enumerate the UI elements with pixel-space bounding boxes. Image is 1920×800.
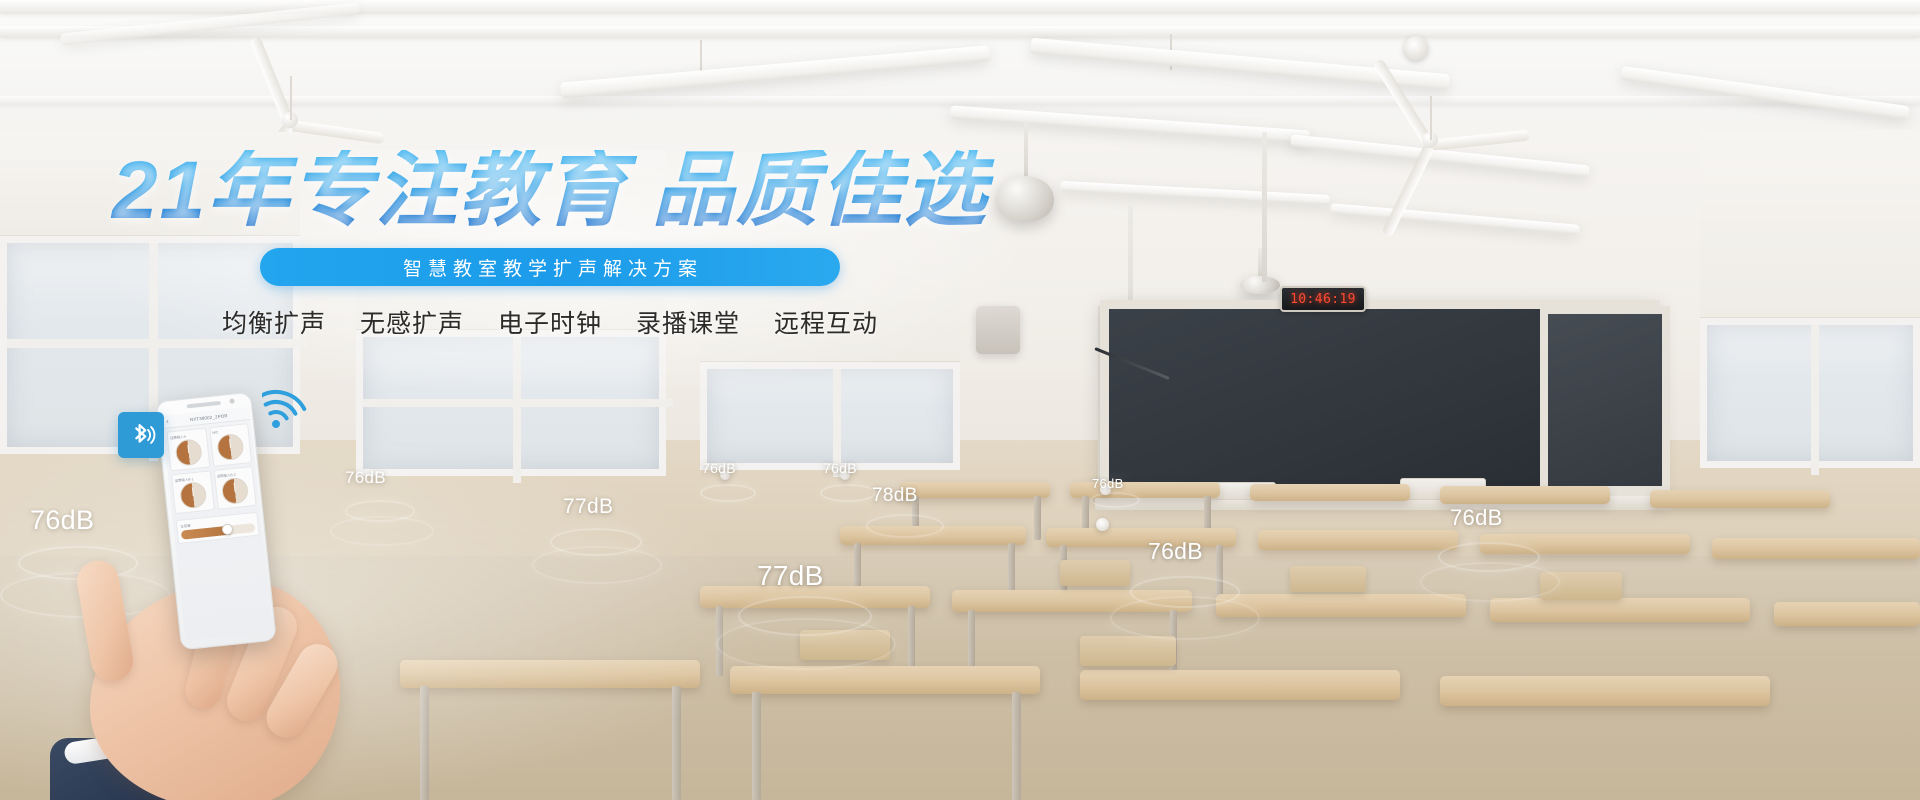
fan-rod <box>1430 96 1432 140</box>
page-title: 21年专注教育 品质佳选 <box>0 150 1100 232</box>
db-reading-1: 76dB <box>345 468 386 488</box>
app-dial-knob[interactable] <box>221 477 250 506</box>
feature-list: 均衡扩声无感扩声电子时钟录播课堂远程互动 <box>190 304 910 340</box>
window <box>1700 318 1920 468</box>
hero-text-block: 21年专注教育 品质佳选 智慧教室教学扩声解决方案 均衡扩声无感扩声电子时钟录播… <box>0 150 1100 340</box>
student-desk <box>1490 598 1750 622</box>
phone-speaker-grille <box>187 401 221 409</box>
student-desk <box>1250 484 1410 501</box>
subtitle-badge: 智慧教室教学扩声解决方案 <box>260 248 840 286</box>
db-reading-8: 76dB <box>1148 538 1203 565</box>
student-desk <box>1440 676 1770 706</box>
window <box>700 362 960 470</box>
window-blind <box>1700 130 1920 320</box>
desk-leg <box>1008 543 1015 597</box>
ceiling-fan <box>1430 140 1431 141</box>
hanging-rod <box>1262 132 1267 282</box>
ceiling-sensor <box>1404 36 1428 60</box>
app-dial-knob[interactable] <box>216 433 245 462</box>
student-desk <box>1258 530 1458 550</box>
desk-leg <box>672 686 681 800</box>
ceiling-fan <box>290 120 291 121</box>
hero-banner: 10:46:19 <box>0 0 1920 800</box>
db-reading-7: 76dB <box>1092 476 1124 491</box>
feature-item-1: 无感扩声 <box>360 304 464 340</box>
ceiling-beam <box>0 96 1920 105</box>
student-desk <box>1046 528 1236 547</box>
chair <box>1080 636 1176 666</box>
app-channel-card-0[interactable]: 话筒输入A <box>166 428 209 472</box>
fan-rod <box>290 76 292 120</box>
student-desk <box>1440 486 1610 504</box>
feature-item-2: 电子时钟 <box>498 304 602 340</box>
ceiling-speaker <box>1240 276 1280 294</box>
db-reading-6: 77dB <box>757 560 824 592</box>
db-reading-4: 76dB <box>823 460 857 476</box>
desk-leg <box>1012 692 1021 800</box>
app-channel-card-3[interactable]: 话筒输入B-2 <box>213 466 256 510</box>
desk-leg <box>752 692 761 800</box>
app-volume-card[interactable]: 主音量 <box>176 512 260 544</box>
app-dial-knob[interactable] <box>179 481 208 510</box>
student-desk <box>1774 602 1920 626</box>
db-reading-5: 78dB <box>872 485 918 507</box>
desk-leg <box>1034 496 1041 540</box>
feature-item-4: 远程互动 <box>774 304 878 340</box>
db-reading-2: 77dB <box>563 495 613 519</box>
desk-microphone <box>1096 518 1109 531</box>
phone-camera <box>229 398 234 403</box>
thumb <box>74 557 137 684</box>
chevron-left-icon[interactable]: ‹ <box>166 418 169 425</box>
student-desk <box>900 482 1050 498</box>
chair <box>1290 566 1366 592</box>
app-card-grid: 话筒输入AMIC话筒输入B-1话筒输入B-2 <box>163 420 260 518</box>
hand-holding-phone: ‹ NXT38002_2POR 话筒输入AMIC话筒输入B-1话筒输入B-2 主… <box>60 500 430 800</box>
feature-item-3: 录播课堂 <box>636 304 740 340</box>
app-channel-card-2[interactable]: 话筒输入B-1 <box>171 470 214 514</box>
student-desk <box>1650 490 1830 508</box>
clock-time: 10:46:19 <box>1290 292 1356 307</box>
electronic-clock: 10:46:19 <box>1280 286 1366 312</box>
slider-handle[interactable] <box>221 523 233 535</box>
window <box>356 330 666 476</box>
app-dial-knob[interactable] <box>174 438 203 467</box>
blackboard-right-wing <box>1540 306 1670 494</box>
db-reading-3: 76dB <box>702 460 736 476</box>
app-channel-card-1[interactable]: MIC <box>209 423 252 467</box>
ceiling-beam <box>0 26 1920 38</box>
chair <box>1060 560 1130 586</box>
student-desk <box>730 666 1040 694</box>
wifi-signal-icon <box>262 378 322 430</box>
subtitle-badge-label: 智慧教室教学扩声解决方案 <box>397 254 703 281</box>
student-desk <box>1080 670 1400 700</box>
student-desk <box>400 660 700 688</box>
bluetooth-icon[interactable] <box>118 412 164 458</box>
student-desk <box>1712 538 1920 559</box>
feature-item-0: 均衡扩声 <box>222 304 326 340</box>
db-reading-9: 76dB <box>1450 505 1503 531</box>
